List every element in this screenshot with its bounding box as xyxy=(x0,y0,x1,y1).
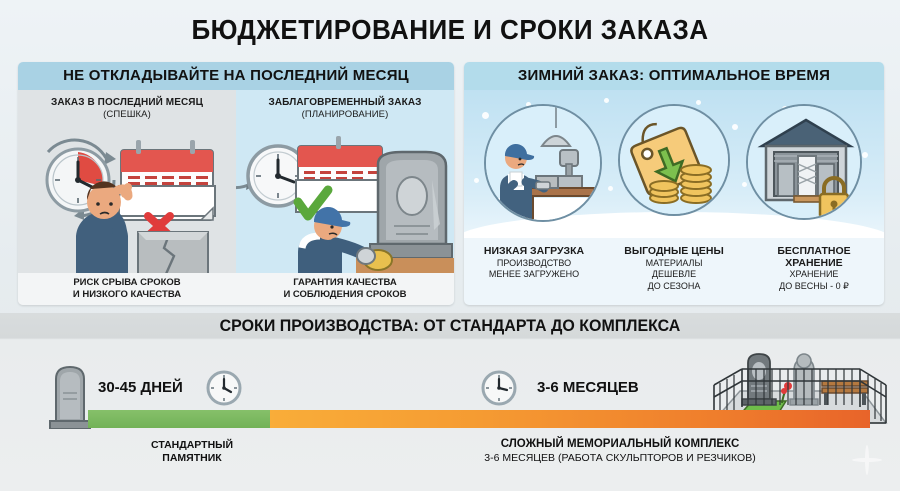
feature-good-prices-line1: МАТЕРИАЛЫ xyxy=(604,258,744,270)
caption-rush: РИСК СРЫВА СРОКОВ И НИЗКОГО КАЧЕСТВА xyxy=(18,273,236,305)
caption-planned: ГАРАНТИЯ КАЧЕСТВА И СОБЛЮДЕНИЯ СРОКОВ xyxy=(236,273,454,305)
clock-icon-left xyxy=(205,369,243,407)
column-planned-title: ЗАБЛАГОВРЕМЕННЫЙ ЗАКАЗ xyxy=(236,97,454,109)
price-tag-down-arrow-coins-icon xyxy=(618,104,730,216)
snowflake xyxy=(474,178,479,183)
winter-scene xyxy=(464,90,884,238)
timeline-segment-standard xyxy=(88,410,270,428)
panel-winter-order: ЗИМНИЙ ЗАКАЗ: ОПТИМАЛЬНОЕ ВРЕМЯ xyxy=(464,62,884,305)
caption-rush-line2: И НИЗКОГО КАЧЕСТВА xyxy=(18,289,236,301)
column-rush-subtitle: (СПЕШКА) xyxy=(18,109,236,121)
rush-illustration xyxy=(18,124,236,274)
timeline-segment-complex xyxy=(270,410,870,428)
feature-low-load-line1: ПРОИЗВОДСТВО xyxy=(464,258,604,270)
snowflake xyxy=(742,182,747,187)
column-rush-title-block: ЗАКАЗ В ПОСЛЕДНИЙ МЕСЯЦ (СПЕШКА) xyxy=(18,90,236,120)
feature-free-storage-line2: ДО ВЕСНЫ - 0 ₽ xyxy=(744,281,884,293)
snowflake xyxy=(862,152,868,158)
timeline-caption-standard-line1: СТАНДАРТНЫЙ xyxy=(72,439,312,452)
timeline-caption-standard-line2: ПАМЯТНИК xyxy=(72,452,312,465)
timeline-caption-complex: СЛОЖНЫЙ МЕМОРИАЛЬНЫЙ КОМПЛЕКС 3-6 МЕСЯЦЕ… xyxy=(420,437,820,465)
caption-planned-line2: И СОБЛЮДЕНИЯ СРОКОВ xyxy=(236,289,454,301)
panel-dont-delay: НЕ ОТКЛАДЫВАЙТЕ НА ПОСЛЕДНИЙ МЕСЯЦ ЗАКАЗ… xyxy=(18,62,454,305)
scene-planned xyxy=(236,124,454,273)
feature-free-storage-heading-line2: ХРАНЕНИЕ xyxy=(744,258,884,270)
feature-good-prices: ВЫГОДНЫЕ ЦЕНЫ МАТЕРИАЛЫ ДЕШЕВЛЕ ДО СЕЗОН… xyxy=(604,246,744,292)
column-rush-order: ЗАКАЗ В ПОСЛЕДНИЙ МЕСЯЦ (СПЕШКА) xyxy=(18,90,236,305)
left-panel-body: ЗАКАЗ В ПОСЛЕДНИЙ МЕСЯЦ (СПЕШКА) xyxy=(18,90,454,305)
caption-rush-line1: РИСК СРЫВА СРОКОВ xyxy=(18,277,236,289)
snowflake xyxy=(608,186,613,191)
clock-icon-right xyxy=(480,369,518,407)
feature-free-storage-heading-line1: БЕСПЛАТНОЕ xyxy=(744,246,884,258)
production-timeline-section: СРОКИ ПРОИЗВОДСТВА: ОТ СТАНДАРТА ДО КОМП… xyxy=(0,313,900,491)
sparkle-icon xyxy=(852,445,882,475)
timeline-label-standard: 30-45 ДНЕЙ xyxy=(98,379,183,396)
timeline-caption-standard: СТАНДАРТНЫЙ ПАМЯТНИК xyxy=(72,439,312,465)
feature-good-prices-line3: ДО СЕЗОНА xyxy=(604,281,744,293)
feature-good-prices-line2: ДЕШЕВЛЕ xyxy=(604,269,744,281)
left-panel-header: НЕ ОТКЛАДЫВАЙТЕ НА ПОСЛЕДНИЙ МЕСЯЦ xyxy=(18,62,454,90)
column-planned-order: ЗАБЛАГОВРЕМЕННЫЙ ЗАКАЗ (ПЛАНИРОВАНИЕ) xyxy=(236,90,454,305)
feature-low-load-heading: НИЗКАЯ ЗАГРУЗКА xyxy=(464,246,604,258)
column-rush-title: ЗАКАЗ В ПОСЛЕДНИЙ МЕСЯЦ xyxy=(18,97,236,109)
feature-low-load-line2: МЕНЕЕ ЗАГРУЖЕНО xyxy=(464,269,604,281)
winter-feature-captions: НИЗКАЯ ЗАГРУЗКА ПРОИЗВОДСТВО МЕНЕЕ ЗАГРУ… xyxy=(464,238,884,292)
snowflake xyxy=(732,124,738,130)
timeline-caption-complex-line1: СЛОЖНЫЙ МЕМОРИАЛЬНЫЙ КОМПЛЕКС xyxy=(420,437,820,451)
column-planned-subtitle: (ПЛАНИРОВАНИЕ) xyxy=(236,109,454,121)
feature-low-load: НИЗКАЯ ЗАГРУЗКА ПРОИЗВОДСТВО МЕНЕЕ ЗАГРУ… xyxy=(464,246,604,292)
timeline-label-complex: 3-6 МЕСЯЦЕВ xyxy=(537,379,639,396)
planned-illustration xyxy=(236,124,454,274)
timeline-title: СРОКИ ПРОИЗВОДСТВА: ОТ СТАНДАРТА ДО КОМП… xyxy=(27,316,873,336)
infographic-page: БЮДЖЕТИРОВАНИЕ И СРОКИ ЗАКАЗА НЕ ОТКЛАДЫ… xyxy=(0,0,900,491)
scene-rush xyxy=(18,124,236,273)
worker-workbench-icon xyxy=(484,104,602,222)
feature-good-prices-heading: ВЫГОДНЫЕ ЦЕНЫ xyxy=(604,246,744,258)
snowflake xyxy=(604,98,609,103)
caption-planned-line1: ГАРАНТИЯ КАЧЕСТВА xyxy=(236,277,454,289)
snowflake xyxy=(696,100,701,105)
timeline-bar xyxy=(88,410,870,428)
snowflake xyxy=(482,112,489,119)
column-planned-title-block: ЗАБЛАГОВРЕМЕННЫЙ ЗАКАЗ (ПЛАНИРОВАНИЕ) xyxy=(236,90,454,120)
warehouse-padlock-icon xyxy=(746,104,862,220)
feature-free-storage: БЕСПЛАТНОЕ ХРАНЕНИЕ ХРАНЕНИЕ ДО ВЕСНЫ - … xyxy=(744,246,884,292)
feature-free-storage-line1: ХРАНЕНИЕ xyxy=(744,269,884,281)
timeline-caption-complex-line2: 3-6 МЕСЯЦЕВ (РАБОТА СКУЛЬПТОРОВ И РЕЗЧИК… xyxy=(420,451,820,465)
page-title: БЮДЖЕТИРОВАНИЕ И СРОКИ ЗАКАЗА xyxy=(32,14,869,46)
right-panel-header: ЗИМНИЙ ЗАКАЗ: ОПТИМАЛЬНОЕ ВРЕМЯ xyxy=(464,62,884,90)
